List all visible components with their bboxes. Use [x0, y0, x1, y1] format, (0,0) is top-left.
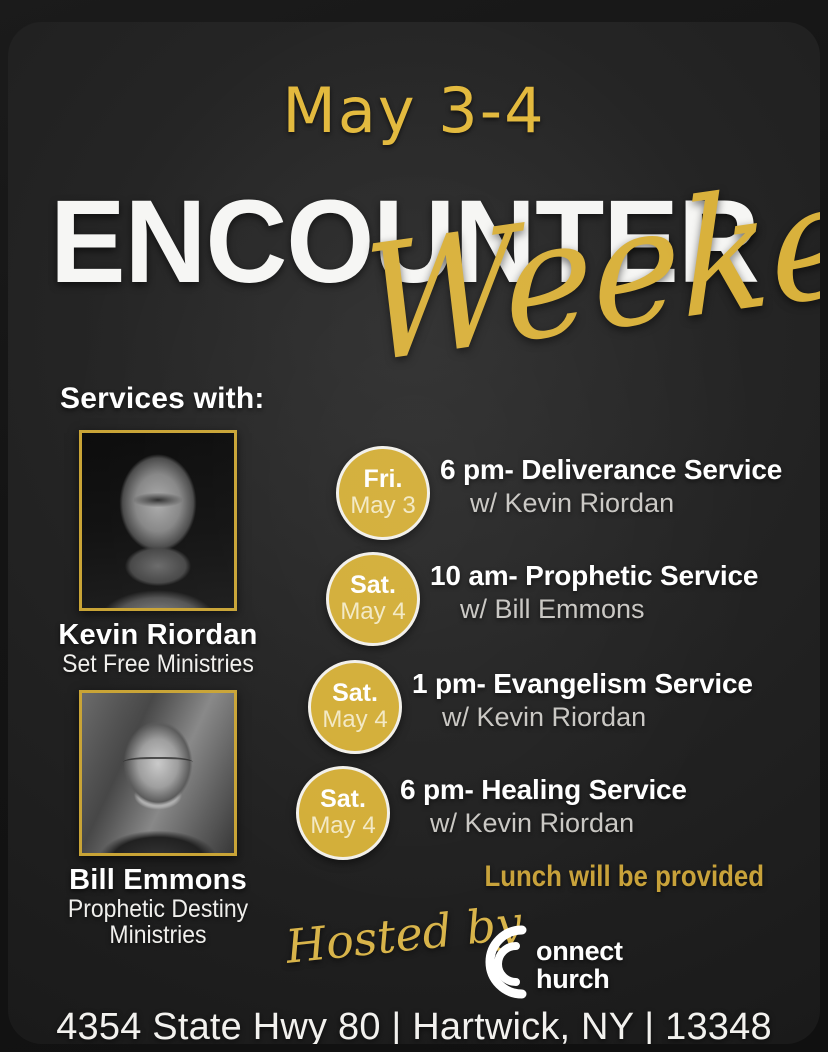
connect-church-logo: onnect hurch — [460, 920, 660, 1004]
badge-weekday: Sat. — [350, 573, 396, 598]
badge-weekday: Sat. — [320, 787, 366, 812]
logo-line-onnect: onnect — [536, 938, 623, 966]
badge-date: May 3 — [350, 492, 415, 520]
schedule-title: 10 am- Prophetic Service — [430, 560, 758, 592]
event-flyer: May 3-4 ENCOUNTER Weekend Services with:… — [0, 0, 828, 1052]
schedule-date-badge: Fri. May 3 — [336, 446, 430, 540]
badge-date: May 4 — [340, 598, 405, 626]
schedule-speaker: w/ Kevin Riordan — [412, 702, 753, 733]
badge-date: May 4 — [322, 706, 387, 734]
logo-line-hurch: hurch — [536, 966, 623, 994]
logo-wordmark: onnect hurch — [536, 938, 623, 993]
schedule-title: 6 pm- Deliverance Service — [440, 454, 782, 486]
schedule-text: 6 pm- Deliverance Service w/ Kevin Riord… — [440, 454, 782, 519]
schedule-speaker: w/ Kevin Riordan — [440, 488, 782, 519]
schedule-date-badge: Sat. May 4 — [326, 552, 420, 646]
schedule-text: 10 am- Prophetic Service w/ Bill Emmons — [430, 560, 758, 625]
lunch-note: Lunch will be provided — [484, 860, 764, 894]
schedule-title: 1 pm- Evangelism Service — [412, 668, 753, 700]
schedule-date-badge: Sat. May 4 — [296, 766, 390, 860]
badge-date: May 4 — [310, 812, 375, 840]
schedule-title: 6 pm- Healing Service — [400, 774, 687, 806]
schedule-speaker: w/ Bill Emmons — [430, 594, 758, 625]
badge-weekday: Sat. — [332, 681, 378, 706]
schedule-text: 6 pm- Healing Service w/ Kevin Riordan — [400, 774, 687, 839]
badge-weekday: Fri. — [364, 467, 403, 492]
venue-address: 4354 State Hwy 80 | Hartwick, NY | 13348 — [8, 1006, 820, 1044]
schedule-speaker: w/ Kevin Riordan — [400, 808, 687, 839]
schedule-date-badge: Sat. May 4 — [308, 660, 402, 754]
flyer-panel: May 3-4 ENCOUNTER Weekend Services with:… — [8, 22, 820, 1044]
schedule-text: 1 pm- Evangelism Service w/ Kevin Riorda… — [412, 668, 753, 733]
